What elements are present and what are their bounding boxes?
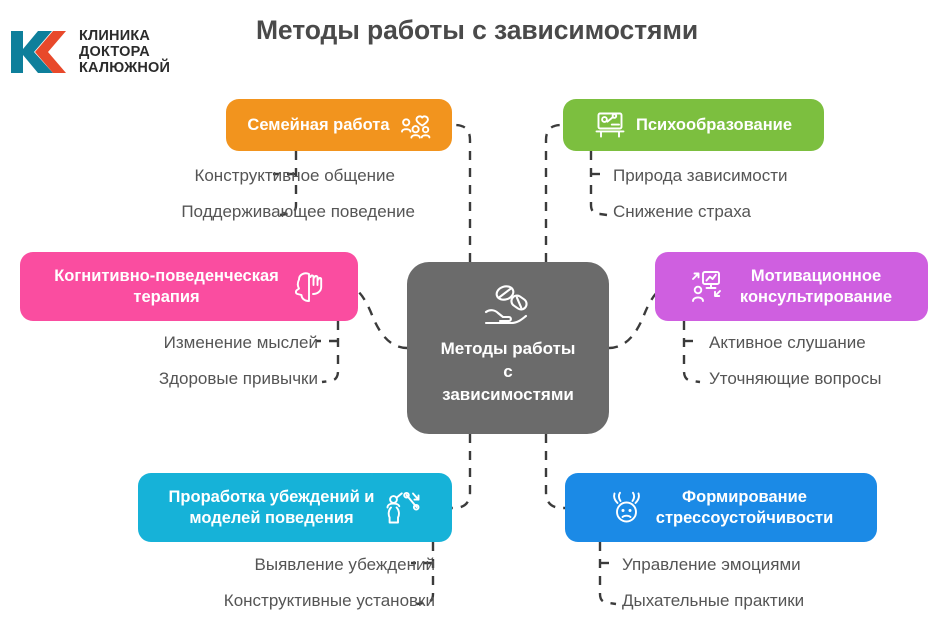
leaf-stress-2: Дыхательные практики xyxy=(622,591,804,611)
leaf-beliefs-2: Конструктивные установки xyxy=(224,591,435,611)
leaf-family-2: Поддерживающее поведение xyxy=(181,202,415,222)
branch-psychoeducation[interactable]: Психообразование xyxy=(563,99,824,151)
hand-with-pills-icon xyxy=(478,283,538,329)
center-node[interactable]: Методы работы с зависимостями xyxy=(407,262,609,434)
branch-cbt[interactable]: Когнитивно-поведенческая терапия xyxy=(20,252,358,321)
leaf-cbt-2: Здоровые привычки xyxy=(159,369,318,389)
leaf-psychoeducation-2: Снижение страха xyxy=(613,202,751,222)
branch-motivational[interactable]: Мотивационное консультирование xyxy=(655,252,928,321)
presentation-board-icon xyxy=(595,111,625,139)
center-node-label: Методы работы с зависимостями xyxy=(416,338,601,407)
leaf-beliefs-1: Выявление убеждений xyxy=(255,555,435,575)
connector-motivational-leaves xyxy=(684,321,700,382)
leaf-motivational-1: Активное слушание xyxy=(709,333,866,353)
branch-stress[interactable]: Формирование стрессоустойчивости xyxy=(565,473,877,542)
branch-beliefs[interactable]: Проработка убеждений и моделей поведения xyxy=(138,473,452,542)
branch-motivational-label: Мотивационное консультирование xyxy=(740,266,892,306)
connector-stress-leaves xyxy=(600,542,616,604)
leaf-motivational-2: Уточняющие вопросы xyxy=(709,369,881,389)
branch-stress-label: Формирование стрессоустойчивости xyxy=(656,487,833,527)
leaf-family-1: Конструктивное общение xyxy=(194,166,395,186)
person-growth-chart-icon xyxy=(691,270,729,304)
branch-family-label: Семейная работа xyxy=(247,115,389,135)
connector-cbt-leaves xyxy=(322,321,338,382)
branch-family[interactable]: Семейная работа xyxy=(226,99,452,151)
leaf-cbt-1: Изменение мыслей xyxy=(164,333,318,353)
head-percent-icon xyxy=(385,491,421,525)
stressed-face-icon xyxy=(609,491,645,525)
leaf-stress-1: Управление эмоциями xyxy=(622,555,801,575)
branch-psychoeducation-label: Психообразование xyxy=(636,115,792,135)
infographic-canvas: КЛИНИКА ДОКТОРА КАЛЮЖНОЙ Методы работы с… xyxy=(0,0,948,634)
branch-beliefs-label: Проработка убеждений и моделей поведения xyxy=(169,487,375,527)
family-heart-icon xyxy=(401,111,431,139)
branch-cbt-label: Когнитивно-поведенческая терапия xyxy=(54,266,279,306)
connector-psychoeducation-leaves xyxy=(591,151,607,215)
connector-center-family xyxy=(447,125,470,262)
leaf-psychoeducation-1: Природа зависимости xyxy=(613,166,788,186)
head-profile-icon xyxy=(290,270,324,304)
